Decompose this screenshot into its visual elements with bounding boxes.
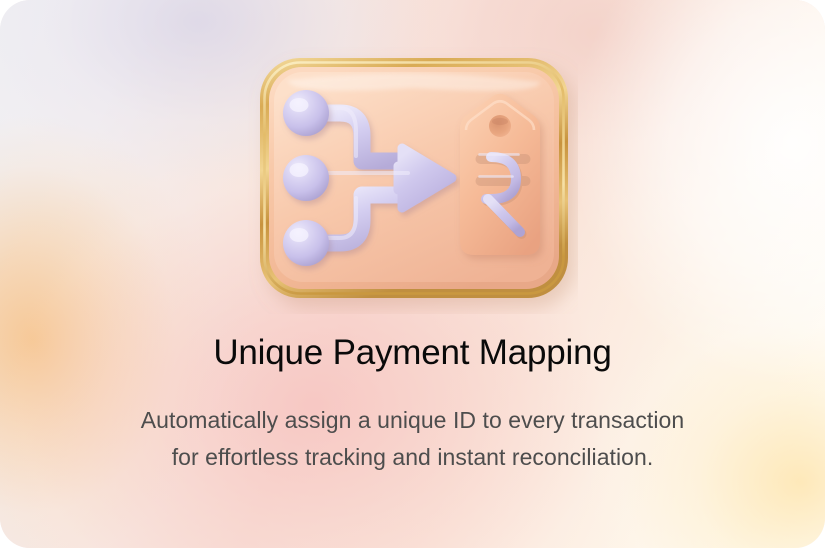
source-node-3: [283, 220, 329, 266]
feature-description-line-1: Automatically assign a unique ID to ever…: [0, 402, 825, 439]
feature-card: Unique Payment Mapping Automatically ass…: [0, 0, 825, 548]
price-tag: [460, 94, 540, 255]
feature-text-block: Unique Payment Mapping Automatically ass…: [0, 330, 825, 476]
feature-icon-container: [0, 36, 825, 314]
source-nodes: [283, 90, 329, 266]
feature-description-line-2: for effortless tracking and instant reco…: [0, 439, 825, 476]
feature-description: Automatically assign a unique ID to ever…: [0, 402, 825, 476]
source-node-1: [283, 90, 329, 136]
page-title: Unique Payment Mapping: [0, 330, 825, 376]
payment-mapping-3d-icon: [248, 36, 578, 314]
source-node-2: [283, 155, 329, 201]
